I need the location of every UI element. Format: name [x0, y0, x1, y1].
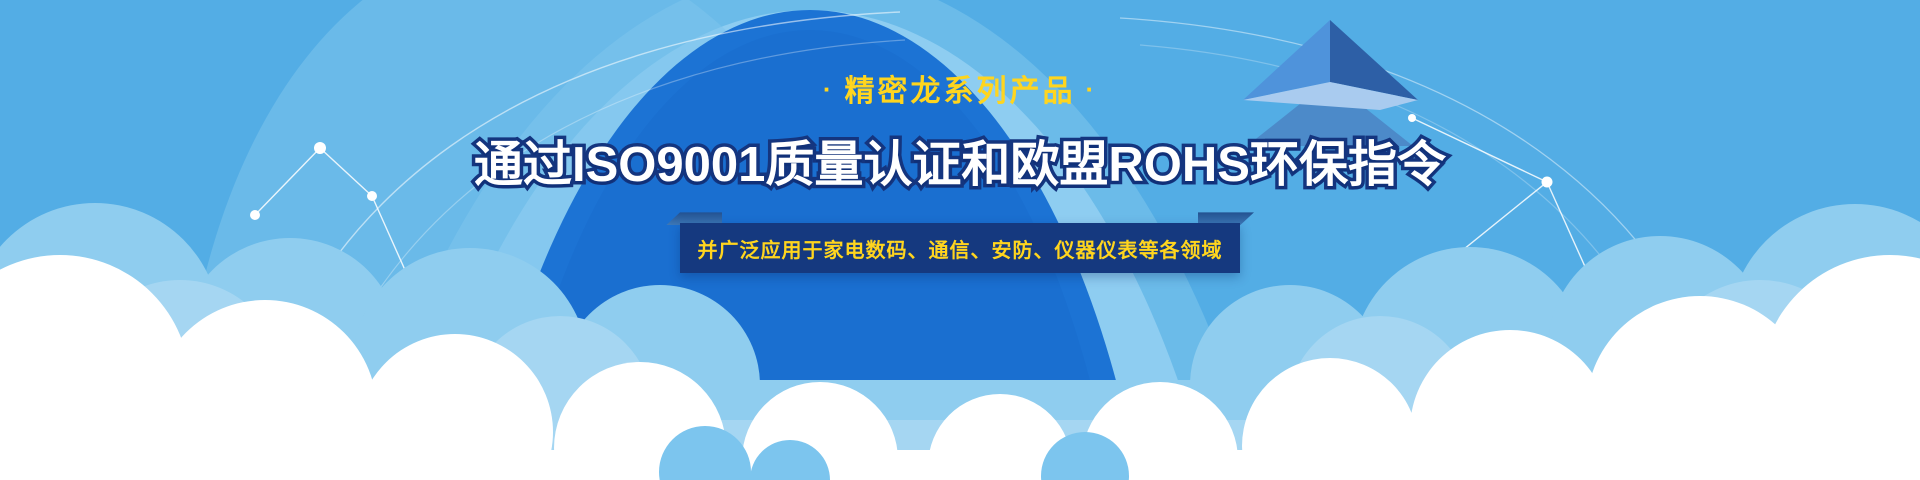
subtitle-dot-left: · — [813, 74, 845, 104]
banner-headline: 通过ISO9001质量认证和欧盟ROHS环保指令 — [474, 137, 1446, 193]
banner-ribbon: 并广泛应用于家电数码、通信、安防、仪器仪表等各领域 — [680, 223, 1240, 273]
banner-content: ·精密龙系列产品· 通过ISO9001质量认证和欧盟ROHS环保指令 并广泛应用… — [0, 0, 1920, 480]
banner-subtitle: ·精密龙系列产品· — [813, 76, 1107, 107]
ribbon-text: 并广泛应用于家电数码、通信、安防、仪器仪表等各领域 — [698, 234, 1223, 263]
promo-banner: ·精密龙系列产品· 通过ISO9001质量认证和欧盟ROHS环保指令 并广泛应用… — [0, 0, 1920, 480]
subtitle-text: 精密龙系列产品 — [845, 75, 1076, 108]
subtitle-dot-right: · — [1076, 74, 1108, 104]
banner-ribbon-wrapper: 并广泛应用于家电数码、通信、安防、仪器仪表等各领域 — [680, 223, 1240, 273]
